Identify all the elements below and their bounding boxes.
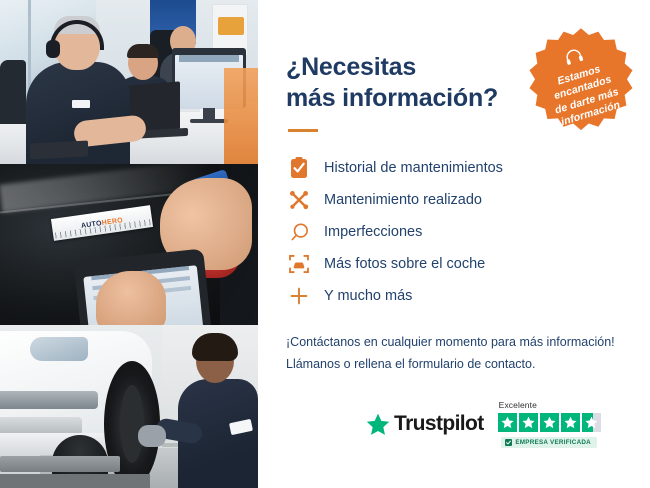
photo1-name-badge xyxy=(72,100,90,108)
star-4 xyxy=(561,413,580,432)
verified-label: EMPRESA VERIFICADA xyxy=(515,439,591,446)
plus-icon xyxy=(286,283,312,309)
list-item: Mantenimiento realizado xyxy=(286,184,626,216)
photo-column: AUTOHERO xyxy=(0,0,258,488)
photo1-orange-panel xyxy=(224,68,258,164)
trustpilot-logo: Trustpilot xyxy=(366,412,484,436)
magnifier-icon xyxy=(286,219,312,245)
photo2-hand-lower xyxy=(96,271,166,325)
badge-label: Estamos encantados de darte más informac… xyxy=(533,56,637,134)
star-5-partial xyxy=(582,413,601,432)
trustpilot-wordmark: Trustpilot xyxy=(394,412,484,436)
star-2 xyxy=(519,413,538,432)
photo1-person2-hair xyxy=(127,44,159,58)
feature-label: Mantenimiento realizado xyxy=(324,193,482,208)
trustpilot-rating: Excelente EMPRESA VERIFICADA xyxy=(498,400,601,448)
photo3-mechanic-hair xyxy=(192,333,238,361)
photo3-grille-upper xyxy=(0,391,98,409)
star-rating xyxy=(498,413,601,432)
feature-list: Historial de mantenimientos M xyxy=(286,152,626,312)
trustpilot-widget[interactable]: Trustpilot Excelente EMPRESA VERIFICAD xyxy=(366,400,601,448)
list-item: Historial de mantenimientos xyxy=(286,152,626,184)
car-inspection-ruler-photo: AUTOHERO xyxy=(0,164,258,325)
photo1-monitor-base xyxy=(190,119,228,123)
photo3-headlight xyxy=(30,337,88,361)
feature-label: Y mucho más xyxy=(324,289,412,304)
call-center-agents-photo xyxy=(0,0,258,164)
tools-icon xyxy=(286,187,312,213)
page-title-line1: ¿Necesitas xyxy=(286,53,416,81)
clipboard-check-icon xyxy=(286,155,312,181)
star-1 xyxy=(498,413,517,432)
photo3-lift-arm xyxy=(0,456,120,472)
photo1-headset-earpiece xyxy=(46,40,60,58)
contact-text: ¡Contáctanos en cualquier momento para m… xyxy=(286,332,626,375)
photo3-mechanic-glove xyxy=(138,425,166,447)
contact-line1: ¡Contáctanos en cualquier momento para m… xyxy=(286,335,615,349)
list-item: Y mucho más xyxy=(286,280,626,312)
list-item: Más fotos sobre el coche xyxy=(286,248,626,280)
contact-line2: Llámanos o rellena el formulario de cont… xyxy=(286,357,535,371)
feature-label: Historial de mantenimientos xyxy=(324,161,503,176)
feature-label: Más fotos sobre el coche xyxy=(324,257,485,272)
rating-label: Excelente xyxy=(499,400,537,410)
title-divider xyxy=(288,129,318,132)
car-photo-icon xyxy=(286,251,312,277)
photo1-tablet xyxy=(30,140,88,159)
photo1-chair-front xyxy=(0,60,26,124)
status-badge: Estamos encantados de darte más informac… xyxy=(525,26,637,138)
information-banner: AUTOHERO xyxy=(0,0,650,488)
mechanic-wheel-photo xyxy=(0,325,258,488)
list-item: Imperfecciones xyxy=(286,216,626,248)
page-title-line2: más información? xyxy=(286,84,498,112)
star-3 xyxy=(540,413,559,432)
feature-label: Imperfecciones xyxy=(324,225,422,240)
check-square-icon xyxy=(505,439,512,446)
content-panel: ¿Necesitas más información? Historial de… xyxy=(258,0,650,488)
photo2-ruler-brand: AUTOHERO xyxy=(81,217,124,230)
photo3-lift-base xyxy=(0,474,150,488)
trustpilot-star-icon xyxy=(366,413,390,436)
photo3-tire-tread xyxy=(120,385,144,463)
verified-badge: EMPRESA VERIFICADA xyxy=(501,437,597,448)
